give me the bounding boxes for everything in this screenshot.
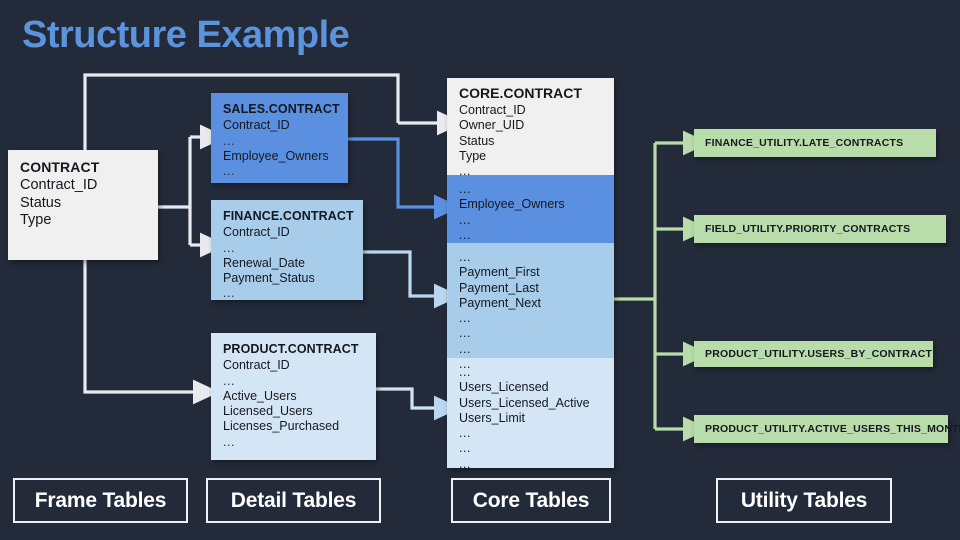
detail-table-finance-contract[interactable]: FINANCE.CONTRACT Contract_ID ... Renewal… <box>211 200 363 300</box>
wire-core-to-utility-trunk <box>614 143 655 299</box>
wire-contract-trunk <box>158 137 190 207</box>
core-table-band-finance: ... Payment_First Payment_Last Payment_N… <box>447 243 614 358</box>
table-field-ellipsis: ... <box>223 164 337 179</box>
table-field: Users_Licensed_Active <box>459 396 603 411</box>
wire-sales-to-core <box>348 139 437 207</box>
detail-table-product-contract[interactable]: PRODUCT.CONTRACT Contract_ID ... Active_… <box>211 333 376 460</box>
utility-table-product-users-by-contract[interactable]: PRODUCT_UTILITY.USERS_BY_CONTRACT <box>694 341 933 367</box>
table-field: Contract_ID <box>223 225 352 240</box>
table-field: Users_Licensed <box>459 380 603 395</box>
table-field-ellipsis: ... <box>223 435 365 450</box>
table-name: CONTRACT <box>20 159 147 176</box>
table-field-ellipsis: ... <box>459 326 603 341</box>
table-field: Users_Limit <box>459 411 603 426</box>
legend-utility-tables: Utility Tables <box>716 478 892 523</box>
legend-frame-tables: Frame Tables <box>13 478 188 523</box>
table-field-ellipsis: ... <box>459 228 603 243</box>
table-field-ellipsis: ... <box>223 241 352 256</box>
table-field: Contract_ID <box>20 177 147 195</box>
core-table-band-sales: ... Employee_Owners ... ... <box>447 175 614 243</box>
table-field: Licensed_Users <box>223 404 365 419</box>
detail-table-sales-contract[interactable]: SALES.CONTRACT Contract_ID ... Employee_… <box>211 93 348 183</box>
diagram-canvas: Structure Example CONTRACT Contract_ID S… <box>0 0 960 540</box>
table-name: PRODUCT.CONTRACT <box>223 342 365 357</box>
core-table-core-contract[interactable]: CORE.CONTRACT Contract_ID Owner_UID Stat… <box>447 78 614 468</box>
table-field-ellipsis: ... <box>459 342 603 357</box>
table-field-ellipsis: ... <box>459 365 603 380</box>
utility-table-product-active-users-this-month[interactable]: PRODUCT_UTILITY.ACTIVE_USERS_THIS_MONTH <box>694 415 948 443</box>
table-field: Payment_First <box>459 265 603 280</box>
page-title: Structure Example <box>22 14 349 57</box>
frame-table-contract[interactable]: CONTRACT Contract_ID Status Type <box>8 150 158 260</box>
table-field: Owner_UID <box>459 118 603 133</box>
table-field: Contract_ID <box>223 358 365 373</box>
wire-contract-to-product <box>85 260 196 392</box>
table-field: Employee_Owners <box>223 149 337 164</box>
table-field-ellipsis: ... <box>459 182 603 197</box>
table-field-ellipsis: ... <box>223 134 337 149</box>
table-field-ellipsis: ... <box>459 457 603 472</box>
table-field-ellipsis: ... <box>459 441 603 456</box>
core-table-band-frame: CORE.CONTRACT Contract_ID Owner_UID Stat… <box>447 78 614 175</box>
utility-table-field-priority-contracts[interactable]: FIELD_UTILITY.PRIORITY_CONTRACTS <box>694 215 946 243</box>
table-field-ellipsis: ... <box>223 286 352 301</box>
table-field: Status <box>459 134 603 149</box>
table-field: Payment_Status <box>223 271 352 286</box>
table-field: Payment_Last <box>459 281 603 296</box>
table-field: Employee_Owners <box>459 197 603 212</box>
table-name: CORE.CONTRACT <box>459 85 603 102</box>
table-field: Type <box>459 149 603 164</box>
table-field: Type <box>20 212 147 230</box>
table-field: Licenses_Purchased <box>223 419 365 434</box>
table-name: SALES.CONTRACT <box>223 102 337 117</box>
utility-table-finance-late-contracts[interactable]: FINANCE_UTILITY.LATE_CONTRACTS <box>694 129 936 157</box>
table-field: Contract_ID <box>223 118 337 133</box>
table-field: Renewal_Date <box>223 256 352 271</box>
table-field: Payment_Next <box>459 296 603 311</box>
table-field-ellipsis: ... <box>223 374 365 389</box>
table-name: FINANCE.CONTRACT <box>223 209 352 224</box>
wire-product-to-core <box>376 389 437 408</box>
table-field-ellipsis: ... <box>459 250 603 265</box>
table-field-ellipsis: ... <box>459 426 603 441</box>
legend-detail-tables: Detail Tables <box>206 478 381 523</box>
core-table-band-product: ... Users_Licensed Users_Licensed_Active… <box>447 358 614 468</box>
table-field-ellipsis: ... <box>459 311 603 326</box>
table-field: Active_Users <box>223 389 365 404</box>
table-field: Contract_ID <box>459 103 603 118</box>
table-field: Status <box>20 195 147 213</box>
legend-core-tables: Core Tables <box>451 478 611 523</box>
table-field-ellipsis: ... <box>459 213 603 228</box>
wire-finance-to-core <box>363 252 437 296</box>
